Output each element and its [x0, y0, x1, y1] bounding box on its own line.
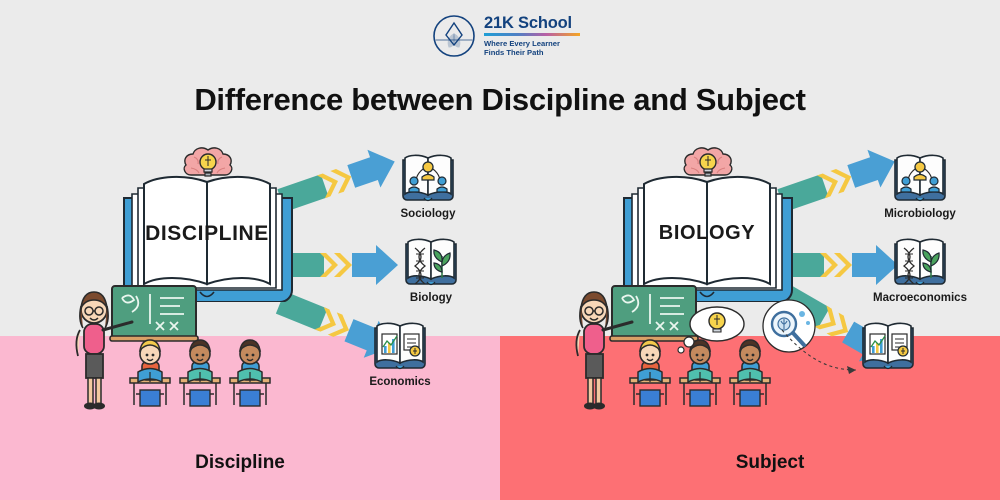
page-title: Difference between Discipline and Subjec…	[0, 82, 1000, 118]
branch-label-macroeconomics: Macroeconomics	[872, 292, 968, 304]
caption-discipline: Discipline	[130, 452, 350, 474]
book-people-network-icon	[397, 152, 459, 204]
book-chart-document-icon	[369, 320, 431, 372]
branch-macroeconomics: Macroeconomics	[872, 236, 968, 304]
branch-label-economics: Economics	[352, 376, 448, 388]
book-label-discipline: DISCIPLINE	[112, 222, 302, 246]
panel-subject: BIOLOGY	[500, 130, 1000, 430]
caption-subject: Subject	[660, 452, 880, 474]
brand-logo: 21K School Where Every Learner Finds The…	[432, 12, 582, 60]
brand-tagline-line1: Where Every Learner	[484, 39, 580, 48]
branch-label-sociology: Sociology	[380, 208, 476, 220]
book-label-subject: BIOLOGY	[612, 222, 802, 245]
branch-biology: Biology	[383, 236, 479, 304]
book-people-network-icon	[889, 152, 951, 204]
brand-gradient-rule	[484, 33, 580, 36]
branch-label-microbiology: Microbiology	[872, 208, 968, 220]
book-dna-leaf-icon	[400, 236, 462, 288]
branch-microbiology: Microbiology	[872, 152, 968, 220]
infographic-canvas: 21K School Where Every Learner Finds The…	[0, 0, 1000, 500]
classroom-scene-discipline	[70, 278, 280, 413]
book-dna-leaf-icon	[889, 236, 951, 288]
brand-name: 21K School	[484, 15, 580, 32]
branch-sociology: Sociology	[380, 152, 476, 220]
thought-bubble-lightbulb-icon	[672, 302, 752, 358]
lotus-circle-icon	[432, 14, 476, 58]
panel-discipline: DISCIPLINE	[0, 130, 500, 430]
branch-economics: Economics	[352, 320, 448, 388]
book-chart-document-icon	[857, 320, 919, 372]
branch-unlabeled	[840, 320, 936, 376]
branch-label-biology: Biology	[383, 292, 479, 304]
brand-tagline-line2: Finds Their Path	[484, 48, 580, 57]
